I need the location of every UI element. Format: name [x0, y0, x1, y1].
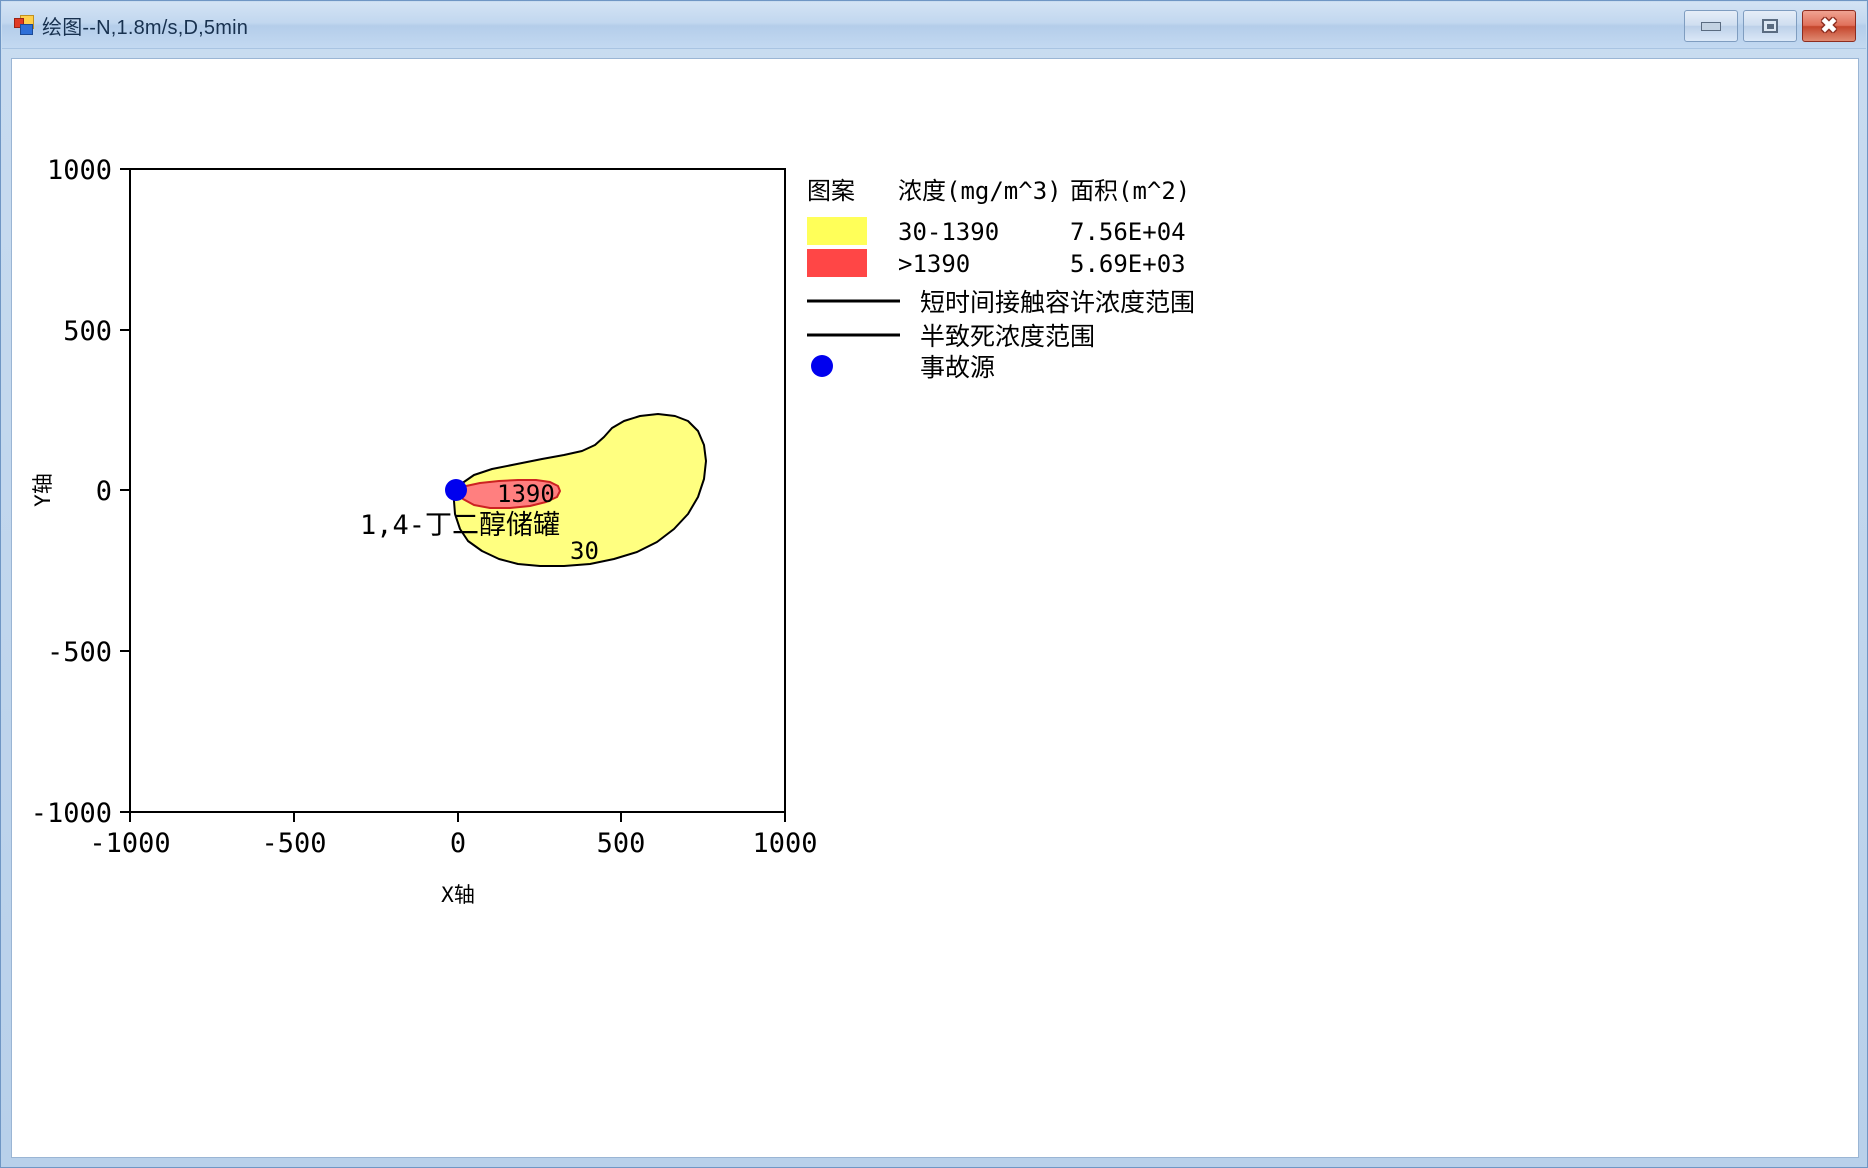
y-tick-label: -500: [47, 637, 112, 668]
y-tick-label: 500: [63, 316, 112, 347]
y-tick-label: -1000: [31, 798, 112, 829]
legend-header-pattern: 图案: [807, 177, 855, 205]
close-button[interactable]: ✖: [1802, 10, 1856, 42]
legend-marker-label: 事故源: [920, 353, 995, 382]
contour-label-1390: 1390: [497, 480, 555, 508]
restore-icon: [1762, 19, 1778, 33]
minimize-icon: [1701, 22, 1721, 31]
legend-line-label: 短时间接触容许浓度范围: [920, 288, 1195, 317]
window-title: 绘图--N,1.8m/s,D,5min: [42, 11, 248, 40]
y-tick-label: 0: [96, 476, 112, 507]
y-tick-label: 1000: [47, 155, 112, 186]
legend-row-area: 7.56E+04: [1070, 218, 1186, 246]
legend-row-label: >1390: [898, 250, 970, 278]
title-bar: 绘图--N,1.8m/s,D,5min ✖: [2, 2, 1866, 49]
accident-source-marker: [445, 479, 467, 501]
source-label: 1,4-丁二醇储罐: [360, 510, 560, 541]
legend-header-concentration: 浓度(mg/m^3): [898, 177, 1062, 205]
legend-marker-source-icon: [811, 355, 833, 377]
plot-canvas: 1000 500 0 -500 -1000 -1000 -500 0 50: [12, 59, 1860, 1159]
minimize-button[interactable]: [1684, 10, 1738, 42]
close-icon: ✖: [1820, 15, 1838, 37]
title-bar-left: 绘图--N,1.8m/s,D,5min: [14, 10, 248, 40]
legend-row-label: 30-1390: [898, 218, 999, 246]
x-tick-label: 500: [597, 828, 646, 859]
legend-header-area: 面积(m^2): [1070, 177, 1190, 205]
x-tick-label: -500: [261, 828, 326, 859]
legend-row-area: 5.69E+03: [1070, 250, 1186, 278]
x-axis-title: X轴: [441, 883, 475, 907]
contour-label-30: 30: [570, 537, 599, 565]
legend: 图案 浓度(mg/m^3) 面积(m^2) 30-1390 7.56E+04 >…: [807, 177, 1195, 382]
window-controls: ✖: [1684, 10, 1856, 42]
x-tick-label: -1000: [89, 828, 170, 859]
application-window: 绘图--N,1.8m/s,D,5min ✖: [0, 0, 1868, 1168]
x-axis-ticks: -1000 -500 0 500 1000: [89, 812, 817, 859]
restore-button[interactable]: [1743, 10, 1797, 42]
app-window-icon: [14, 15, 34, 35]
client-area: 1000 500 0 -500 -1000 -1000 -500 0 50: [11, 58, 1859, 1158]
legend-swatch-yellow: [807, 217, 867, 245]
x-tick-label: 0: [450, 828, 466, 859]
x-tick-label: 1000: [752, 828, 817, 859]
legend-line-label: 半致死浓度范围: [920, 322, 1095, 351]
legend-swatch-red: [807, 249, 867, 277]
dispersion-plot: 1000 500 0 -500 -1000 -1000 -500 0 50: [12, 59, 1860, 1159]
y-axis-title: Y轴: [31, 473, 55, 507]
